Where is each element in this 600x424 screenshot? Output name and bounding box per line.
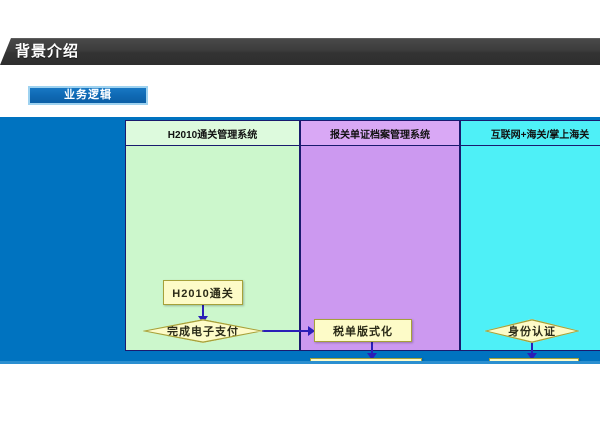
lane-header-declaration-archive: 报关单证档案管理系统 [301, 121, 459, 146]
node-tax-bill-format[interactable]: 税单版式化 [314, 319, 412, 342]
lane-header-internet-customs: 互联网+海关/掌上海关 [461, 121, 600, 146]
node-h2010-clearance[interactable]: H2010通关 [163, 280, 243, 305]
slide-header-bar: 背景介绍 [0, 38, 600, 65]
page-title: 背景介绍 [15, 40, 79, 63]
edge-cyan-bus-top-stub [578, 361, 586, 363]
section-label-business-logic[interactable]: 业务逻辑 [28, 86, 148, 105]
header-corner-notch [0, 38, 11, 65]
lane-internet-customs: 互联网+海关/掌上海关 [460, 120, 600, 351]
lane-header-h2010: H2010通关管理系统 [126, 121, 299, 146]
node-declaration-archive[interactable]: 报关单证档案 [310, 358, 422, 364]
node-identity-auth-label: 身份认证 [508, 323, 556, 339]
swimlane-diagram: H2010通关管理系统 报关单证档案管理系统 互联网+海关/掌上海关 H2010… [0, 117, 600, 364]
lane-declaration-archive: 报关单证档案管理系统 [300, 120, 460, 351]
edge-epay-to-taxbill-line [262, 330, 312, 332]
edge-cyan-right-bus [584, 361, 586, 364]
node-finish-epay-label: 完成电子支付 [167, 323, 239, 339]
lane-h2010: H2010通关管理系统 [125, 120, 300, 351]
node-query-request[interactable]: 查询申请 [489, 358, 579, 364]
